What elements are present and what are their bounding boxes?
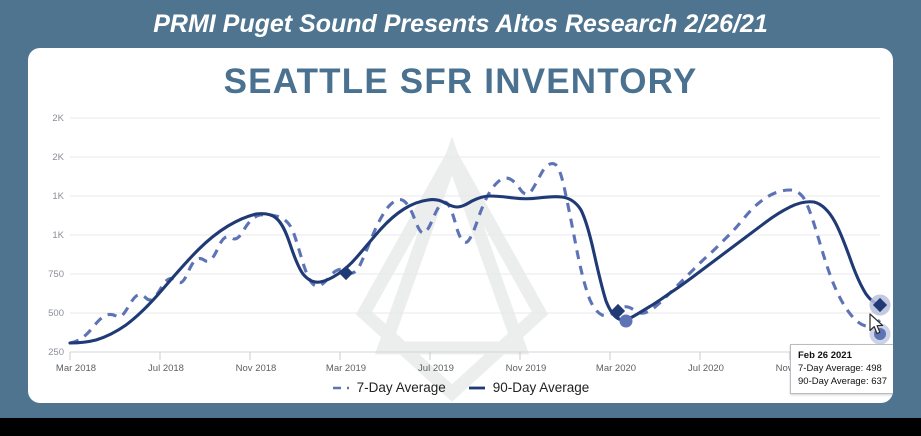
svg-text:250: 250: [48, 347, 64, 358]
legend-swatch-solid-icon: [468, 383, 486, 393]
svg-text:Nov 2019: Nov 2019: [506, 363, 547, 374]
svg-text:2K: 2K: [52, 113, 64, 124]
tooltip-7day-value: 7-Day Average: 498: [798, 362, 887, 375]
legend-label-7-day-average: 7-Day Average: [357, 380, 446, 395]
svg-text:Mar 2018: Mar 2018: [56, 363, 96, 374]
gridlines: [70, 118, 880, 352]
chart-card: SEATTLE SFR INVENTORY: [28, 48, 893, 403]
svg-text:750: 750: [48, 269, 64, 280]
svg-text:Mar 2019: Mar 2019: [326, 363, 366, 374]
svg-text:1K: 1K: [52, 230, 64, 241]
legend-label-90-day-average: 90-Day Average: [493, 380, 590, 395]
svg-text:Mar 2020: Mar 2020: [596, 363, 636, 374]
marker-circle-feb-2021[interactable]: [874, 328, 886, 340]
banner: PRMI Puget Sound Presents Altos Research…: [0, 0, 921, 48]
chart-plot-area[interactable]: 2K 2K 1K 1K 750 500 250: [28, 108, 893, 403]
chart-title: SEATTLE SFR INVENTORY: [28, 62, 893, 102]
y-axis-labels: 2K 2K 1K 1K 750 500 250: [48, 113, 65, 358]
legend-swatch-dashed-icon: [332, 383, 350, 393]
svg-text:1K: 1K: [52, 191, 64, 202]
legend-item-90-day-average[interactable]: 90-Day Average: [468, 380, 590, 395]
tooltip-90day-value: 90-Day Average: 637: [798, 375, 887, 388]
svg-text:Jul 2020: Jul 2020: [688, 363, 724, 374]
svg-text:Nov 2018: Nov 2018: [236, 363, 277, 374]
tooltip-date: Feb 26 2021: [798, 349, 887, 362]
legend-item-7-day-average[interactable]: 7-Day Average: [332, 380, 446, 395]
data-point-markers[interactable]: [339, 266, 891, 345]
banner-title: PRMI Puget Sound Presents Altos Research…: [153, 10, 768, 39]
svg-text:Jul 2018: Jul 2018: [148, 363, 184, 374]
svg-text:Jul 2019: Jul 2019: [418, 363, 454, 374]
chart-tooltip: Feb 26 2021 7-Day Average: 498 90-Day Av…: [790, 344, 893, 394]
marker-circle-mar-2020[interactable]: [620, 315, 633, 328]
svg-text:2K: 2K: [52, 152, 64, 163]
svg-text:500: 500: [48, 308, 64, 319]
screen: PRMI Puget Sound Presents Altos Research…: [0, 0, 921, 436]
chart-legend: 7-Day Average 90-Day Average: [28, 380, 893, 395]
slide-frame: PRMI Puget Sound Presents Altos Research…: [0, 0, 921, 418]
